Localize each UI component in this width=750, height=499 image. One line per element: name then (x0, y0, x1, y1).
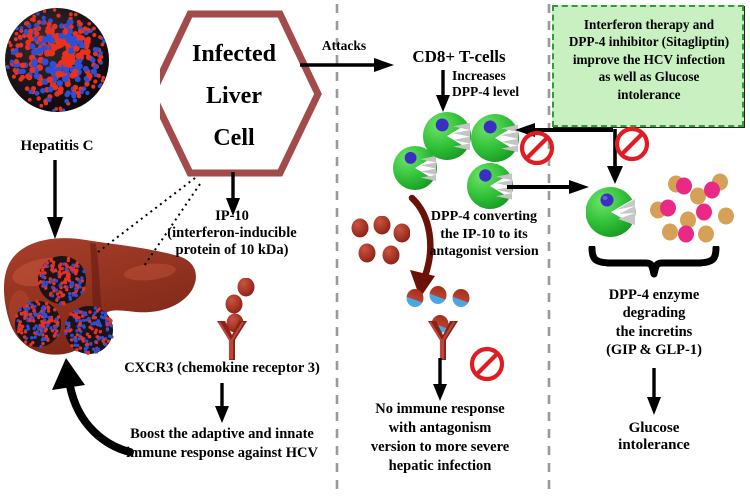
boost-outcome-label: Boost the adaptive and innate immune res… (126, 425, 318, 463)
incretin-particle (660, 200, 676, 217)
no-immune-response-label: No immune response with antagonism versi… (371, 400, 509, 475)
incretin-particle (676, 178, 692, 195)
prohibition-no-entry-icon-1 (517, 128, 557, 168)
cxcr3-y-receptor-icon-middle (423, 318, 459, 362)
hexagon-line-1: Infected (192, 36, 276, 73)
glucose-intolerance-label: Glucose intolerance (606, 420, 702, 454)
cxcr3-label: CXCR3 (chemokine receptor 3) (124, 360, 320, 376)
incretin-particle (704, 182, 720, 199)
ip10-particles-middle (348, 216, 410, 270)
therapy-callout-label: Interferon therapy and DPP-4 inhibitor (… (551, 16, 747, 103)
curly-brace-icon (586, 246, 722, 278)
dpp4-converting-label: DPP-4 converting the IP-10 to its antago… (429, 208, 538, 261)
incretin-particle (718, 208, 734, 225)
hepatitis-c-virion-icon (2, 2, 112, 120)
incretin-particle (678, 226, 694, 243)
arrow-to-no-response (426, 358, 456, 402)
incretin-particle (698, 226, 714, 243)
incretin-particle (662, 224, 678, 241)
incretin-particle (690, 188, 706, 205)
cxcr3-y-receptor-icon (212, 318, 248, 362)
incretin-particle (696, 204, 712, 221)
arrow-cxcr3-to-boost (205, 383, 241, 425)
dpp4-degrading-label: DPP-4 enzyme degrading the incretins (GI… (606, 286, 702, 359)
dpp4-enzyme-pacman-icon-right (586, 187, 636, 237)
figure-canvas: Hepatitis C Infected Liver (0, 0, 750, 499)
arrow-middle-to-right (507, 178, 591, 198)
dpp4-enzyme-pacman-icon (423, 112, 471, 160)
ip10-label: IP-10 (interferon-inducible protein of 1… (167, 208, 296, 259)
hexagon-line-2: Liver (206, 78, 262, 115)
prohibition-no-entry-icon-2 (467, 344, 507, 384)
attacks-label: Attacks (322, 38, 366, 53)
arrow-attacks (300, 56, 396, 76)
arrow-to-glucose (640, 368, 670, 416)
dpp4-enzyme-with-incretins (586, 172, 736, 250)
prohibition-no-entry-icon-3 (612, 124, 652, 164)
increases-dpp4-label: Increases DPP-4 level (452, 68, 519, 100)
cd8-tcells-label: CD8+ T-cells (412, 47, 505, 66)
